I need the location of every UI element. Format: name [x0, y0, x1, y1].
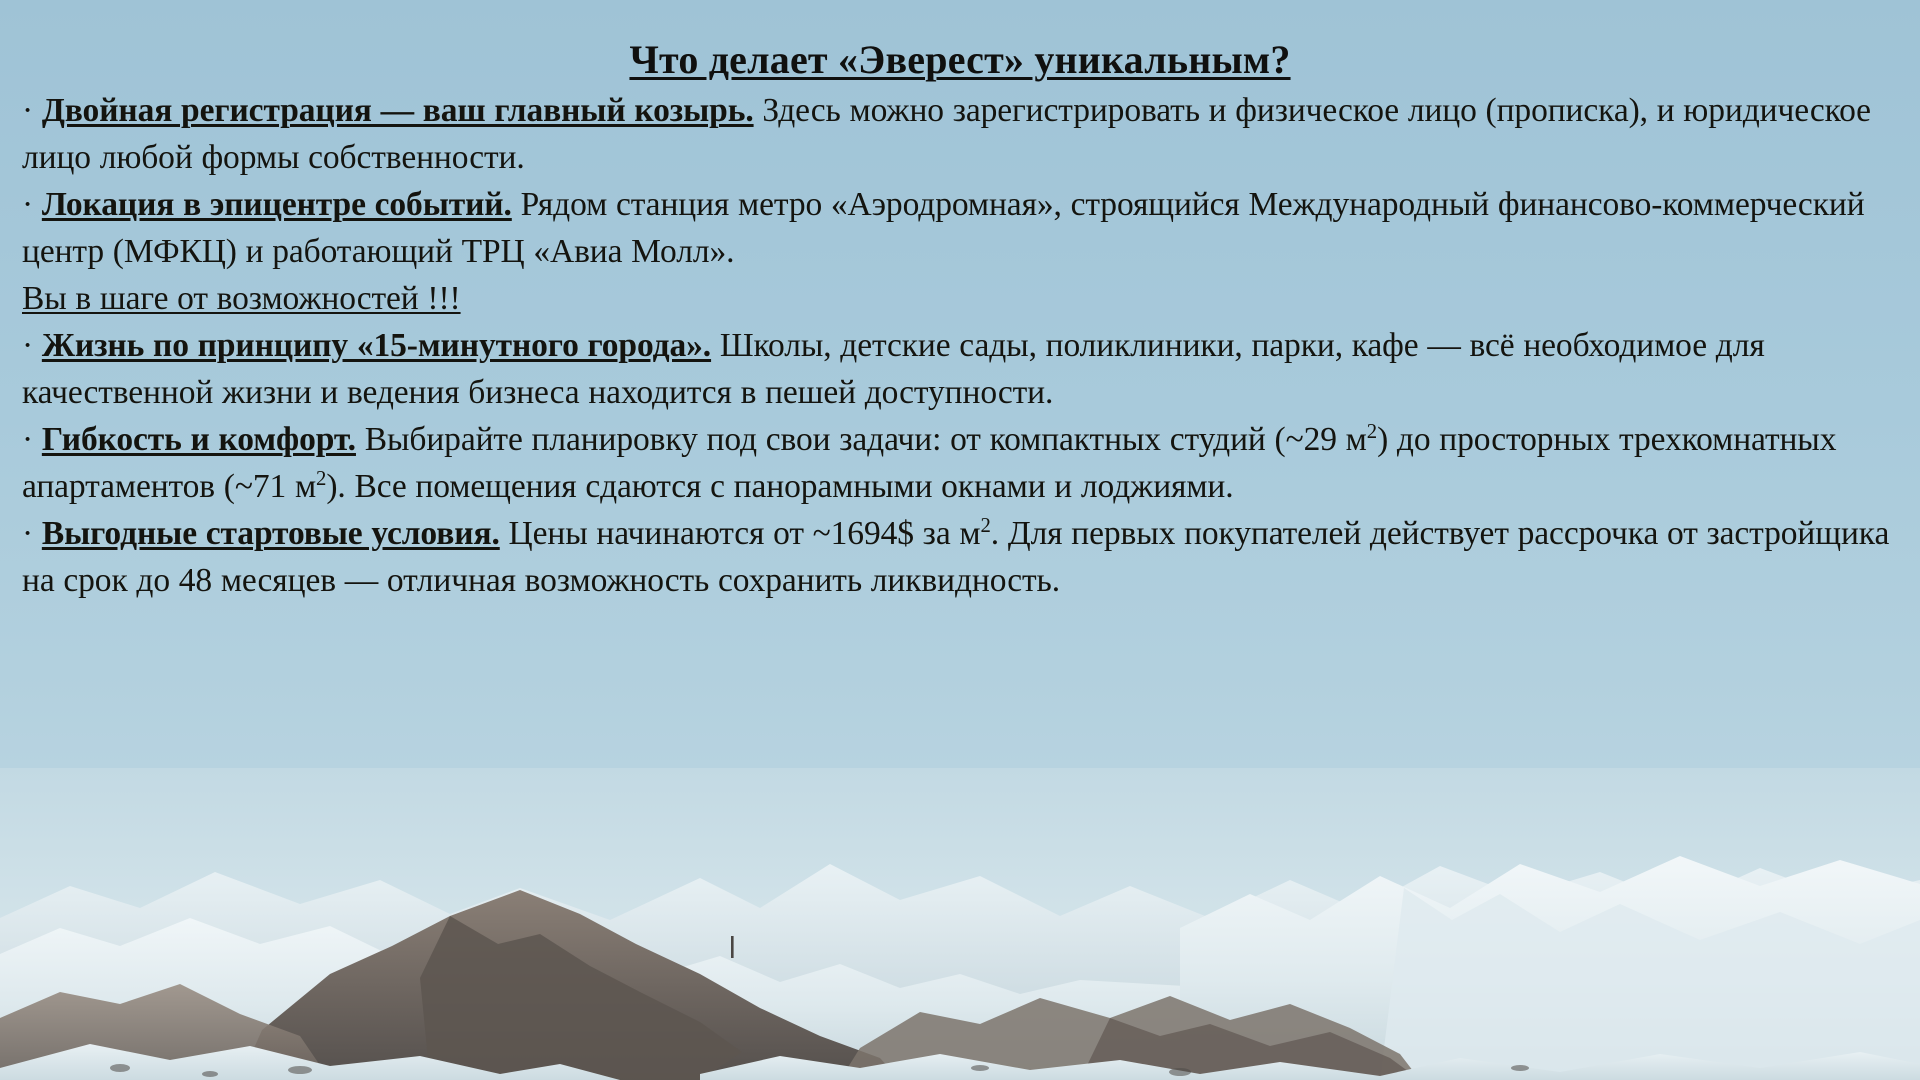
bullet-lead-starting-conditions: Выгодные стартовые условия.	[42, 515, 500, 552]
square-meter-exponent: 2	[980, 514, 990, 537]
summit-mast-icon	[731, 936, 734, 958]
slide-content: Что делает «Эверест» уникальным? · Двойн…	[0, 0, 1920, 604]
square-meter-exponent: 2	[316, 467, 326, 490]
bullet-marker: ·	[22, 186, 33, 223]
page-title: Что делает «Эверест» уникальным?	[22, 36, 1898, 83]
bullet-marker: ·	[22, 515, 33, 552]
bullet-dual-registration: · Двойная регистрация — ваш главный козы…	[22, 87, 1898, 181]
mountain-ridge-graphic	[0, 768, 1920, 1080]
bullet-lead-dual-registration: Двойная регистрация — ваш главный козырь…	[42, 92, 754, 129]
bullet-lead-location: Локация в эпицентре событий.	[42, 186, 512, 223]
bullet-body-part-3: ). Все помещения сдаются с панорамными о…	[326, 468, 1233, 505]
bullet-body-part-1: Выбирайте планировку под свои задачи: от…	[356, 421, 1367, 458]
bullet-starting-conditions: · Выгодные стартовые условия. Цены начин…	[22, 510, 1898, 604]
bullet-tail-location: Вы в шаге от возможностей !!!	[22, 280, 461, 317]
mountain-photo	[0, 768, 1920, 1080]
bullet-lead-fifteen-minute-city: Жизнь по принципу «15-минутного города».	[42, 327, 711, 364]
bullet-marker: ·	[22, 421, 33, 458]
bullet-lead-flexibility-comfort: Гибкость и комфорт.	[42, 421, 356, 458]
bullet-marker: ·	[22, 92, 33, 129]
bullet-flexibility-comfort: · Гибкость и комфорт. Выбирайте планиров…	[22, 416, 1898, 510]
bullet-body-part-1: Цены начинаются от ~1694$ за м	[500, 515, 981, 552]
presentation-slide: Что делает «Эверест» уникальным? · Двойн…	[0, 0, 1920, 1080]
square-meter-exponent: 2	[1367, 420, 1377, 443]
bullet-location: · Локация в эпицентре событий. Рядом ста…	[22, 181, 1898, 322]
bullet-fifteen-minute-city: · Жизнь по принципу «15-минутного города…	[22, 322, 1898, 416]
page-title-text: Что делает «Эверест» уникальным?	[629, 37, 1290, 82]
bullet-marker: ·	[22, 327, 33, 364]
